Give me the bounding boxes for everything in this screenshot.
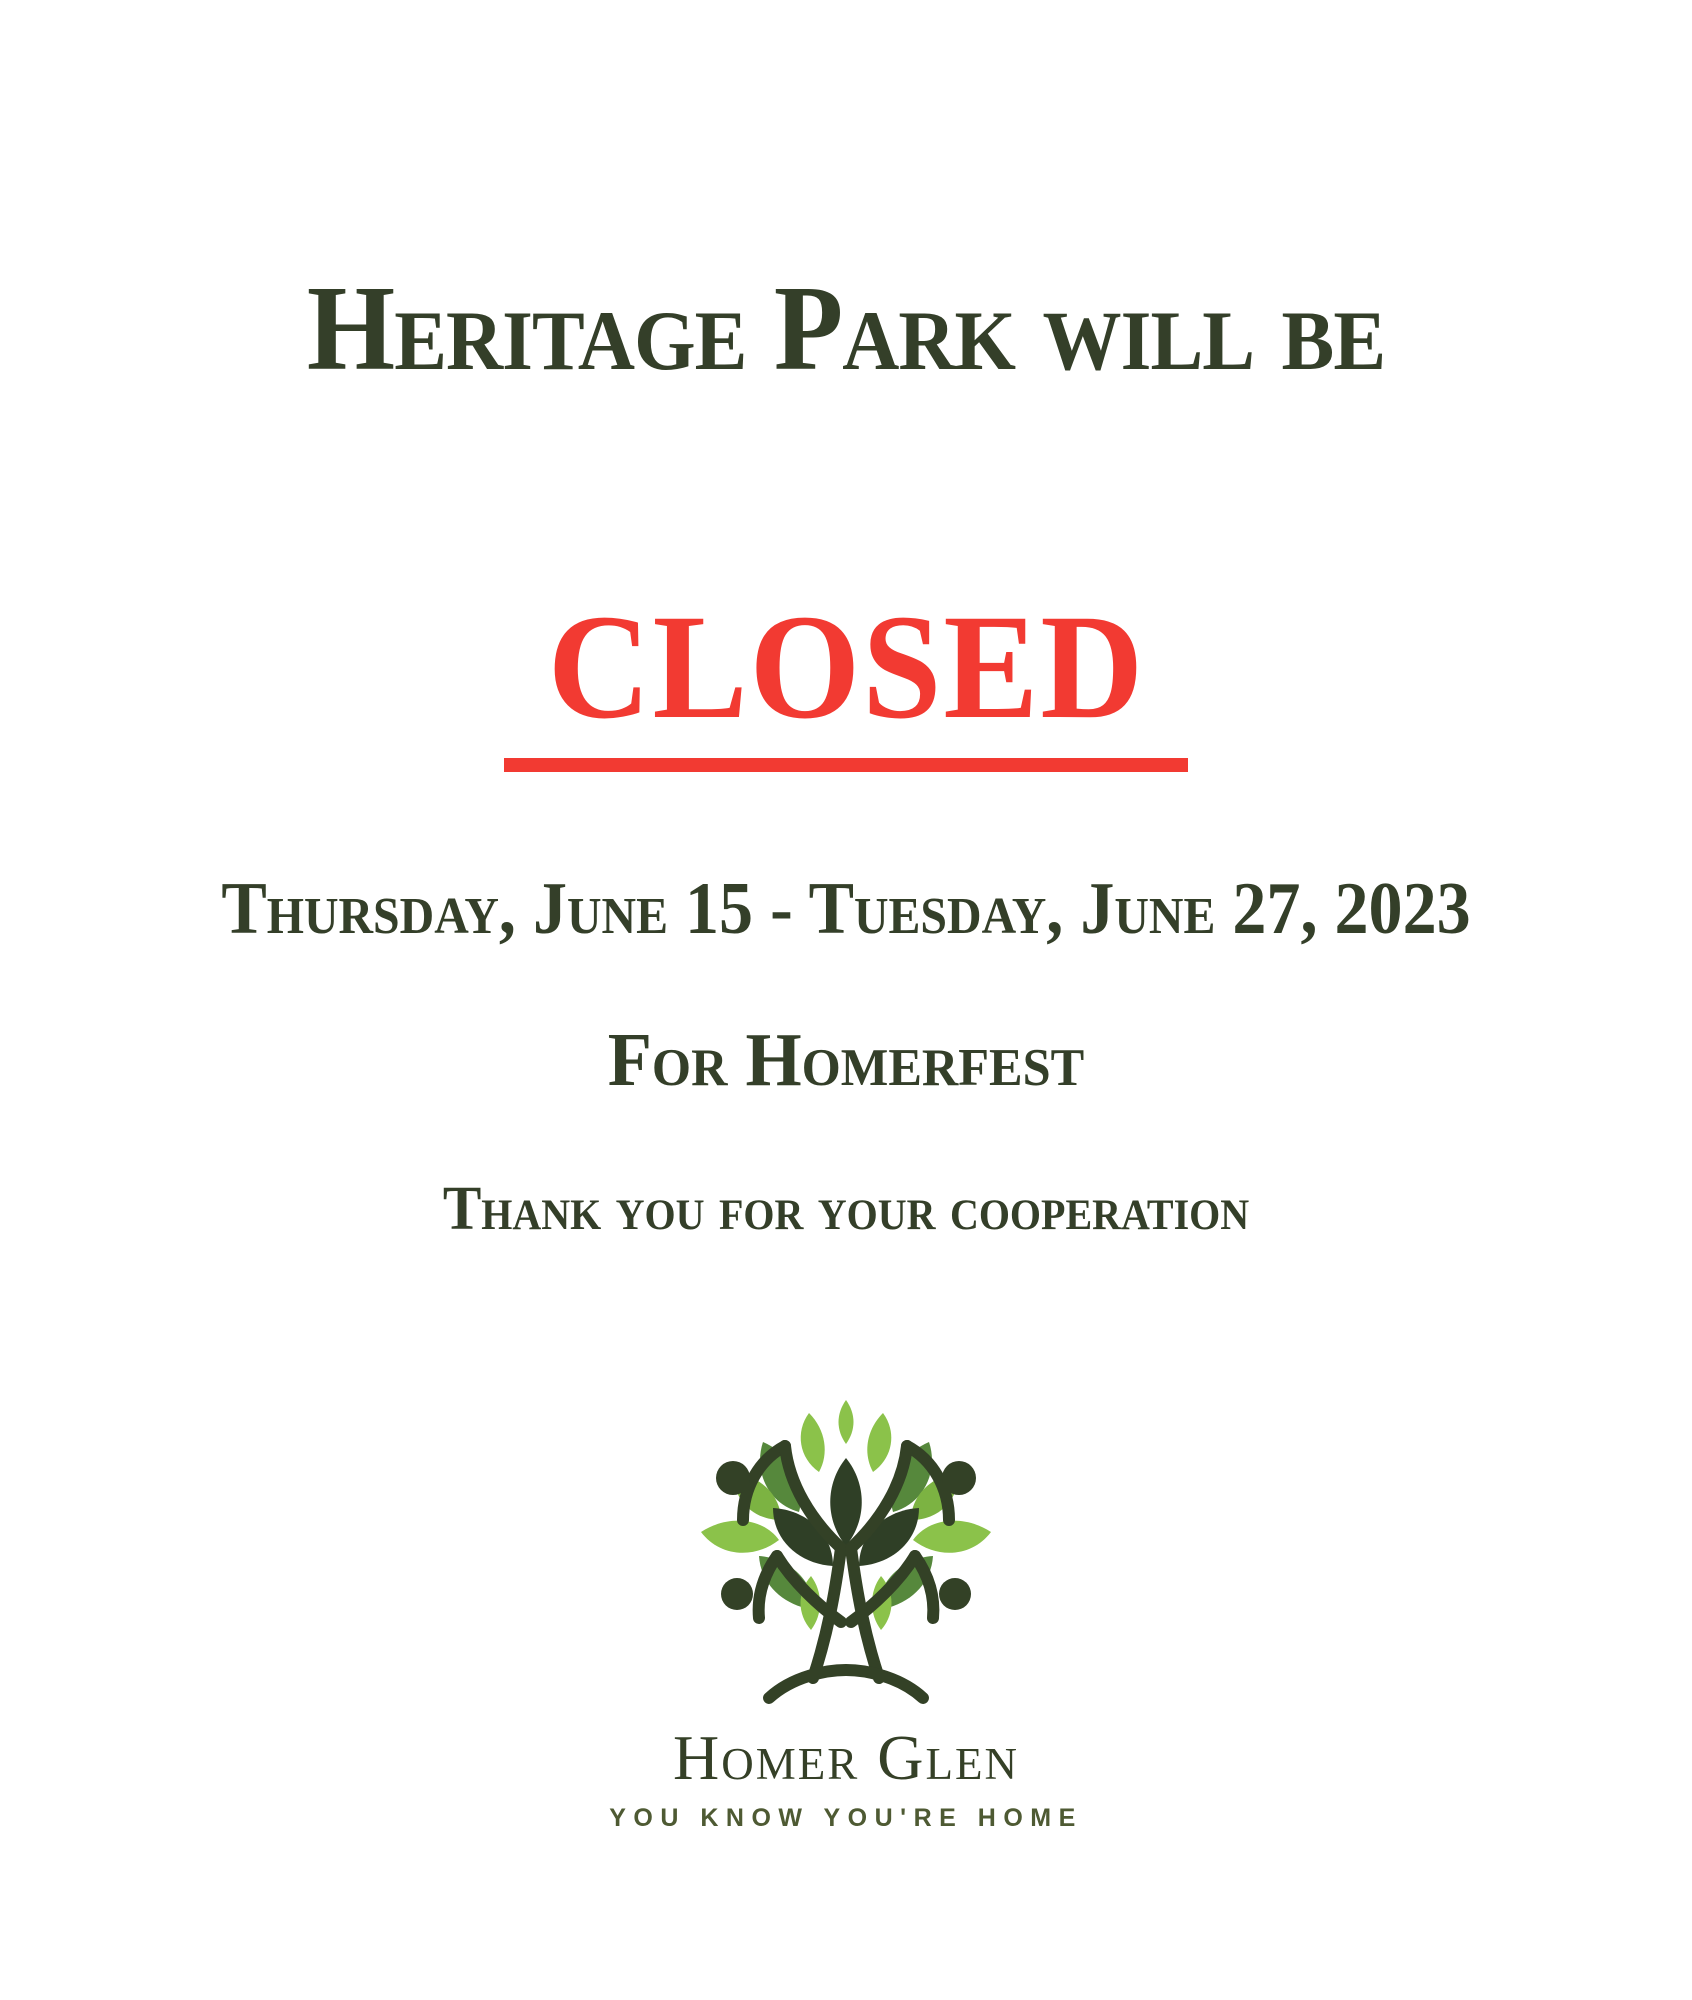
notice-sheet: Heritage Park will be CLOSED Thursday, J… (0, 0, 1692, 2000)
closure-reason: For Homerfest (42, 1022, 1649, 1098)
logo-tagline: You know you're home (0, 1806, 1692, 1831)
tree-icon (681, 1380, 1011, 1720)
page-title: Heritage Park will be (59, 268, 1633, 390)
closed-status-block: CLOSED (0, 592, 1692, 772)
closing-remark: Thank you for your cooperation (59, 1178, 1633, 1240)
status-badge-closed: CLOSED (547, 592, 1144, 742)
closed-underline-rule (504, 758, 1188, 772)
municipal-logo: Homer Glen You know you're home (0, 1380, 1692, 1831)
logo-wordmark: Homer Glen (0, 1726, 1692, 1790)
closure-date-range: Thursday, June 15 - Tuesday, June 27, 20… (68, 872, 1625, 946)
